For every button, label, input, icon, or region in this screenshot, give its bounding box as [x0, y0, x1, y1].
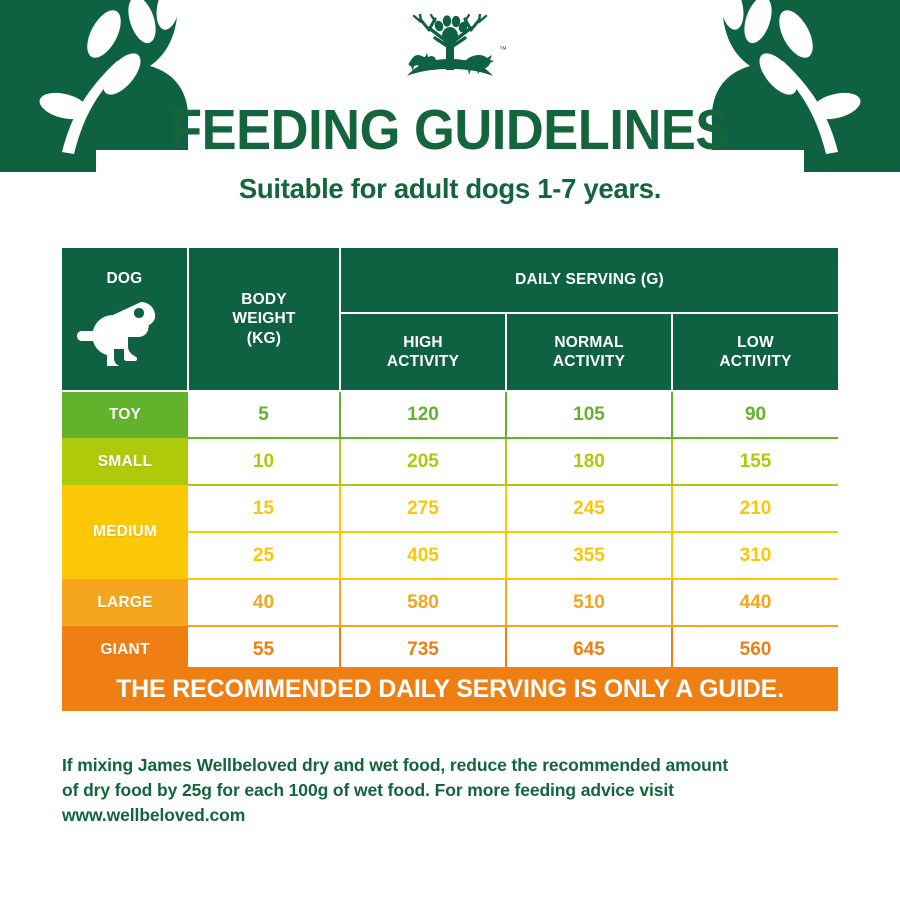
- cell-giant-low: 560: [672, 626, 838, 673]
- header-cell-low-activity: LOW ACTIVITY: [672, 313, 838, 391]
- page-header: ™ FEEDING GUIDELINES Suitable for adult …: [0, 0, 900, 205]
- table-row-toy: TOY 5 120 105 90: [62, 391, 838, 438]
- row-label-large: LARGE: [62, 579, 188, 626]
- footnote-website: www.wellbeloved.com: [62, 803, 842, 828]
- guide-disclaimer-banner: THE RECOMMENDED DAILY SERVING IS ONLY A …: [62, 667, 838, 711]
- cell-toy-high: 120: [340, 391, 506, 438]
- cell-medium-high-1: 275: [340, 485, 506, 532]
- cell-small-low: 155: [672, 438, 838, 485]
- cell-large-normal: 510: [506, 579, 672, 626]
- cell-large-low: 440: [672, 579, 838, 626]
- cell-medium-normal-2: 355: [506, 532, 672, 579]
- header-label-low-line2: ACTIVITY: [719, 352, 791, 371]
- cell-medium-low-2: 310: [672, 532, 838, 579]
- cell-large-high: 580: [340, 579, 506, 626]
- feeding-guidelines-table: DOG BODY WEIGHT (KG): [62, 248, 838, 674]
- cell-toy-normal: 105: [506, 391, 672, 438]
- cell-giant-weight: 55: [188, 626, 340, 673]
- trademark-mark: ™: [499, 45, 507, 54]
- row-label-giant: GIANT: [62, 626, 188, 673]
- header-label-body-weight-line3: (KG): [232, 329, 295, 348]
- footnote-line-2: of dry food by 25g for each 100g of wet …: [62, 778, 842, 803]
- header-cell-dog: DOG: [62, 248, 188, 391]
- cell-giant-high: 735: [340, 626, 506, 673]
- footnote-text: If mixing James Wellbeloved dry and wet …: [62, 753, 842, 828]
- table-row-large: LARGE 40 580 510 440: [62, 579, 838, 626]
- cell-giant-normal: 645: [506, 626, 672, 673]
- header-label-dog: DOG: [107, 269, 143, 288]
- cell-small-normal: 180: [506, 438, 672, 485]
- cell-medium-low-1: 210: [672, 485, 838, 532]
- header-cell-daily-serving: DAILY SERVING (G): [340, 248, 838, 313]
- table-row-small: SMALL 10 205 180 155: [62, 438, 838, 485]
- row-label-medium: MEDIUM: [62, 485, 188, 579]
- brand-logo-icon: ™: [391, 14, 509, 86]
- header-label-low-line1: LOW: [719, 333, 791, 352]
- header-label-normal-line1: NORMAL: [553, 333, 625, 352]
- cell-medium-high-2: 405: [340, 532, 506, 579]
- cell-medium-weight-1: 15: [188, 485, 340, 532]
- cell-medium-normal-1: 245: [506, 485, 672, 532]
- header-label-daily-serving: DAILY SERVING (G): [341, 248, 838, 312]
- dog-silhouette-icon: [77, 292, 173, 366]
- table-row-giant: GIANT 55 735 645 560: [62, 626, 838, 673]
- cell-small-high: 205: [340, 438, 506, 485]
- header-cell-normal-activity: NORMAL ACTIVITY: [506, 313, 672, 391]
- cell-toy-low: 90: [672, 391, 838, 438]
- cell-toy-weight: 5: [188, 391, 340, 438]
- row-label-toy: TOY: [62, 391, 188, 438]
- header-label-body-weight-line1: BODY: [232, 290, 295, 309]
- row-label-small: SMALL: [62, 438, 188, 485]
- cell-large-weight: 40: [188, 579, 340, 626]
- cell-small-weight: 10: [188, 438, 340, 485]
- header-label-high-line1: HIGH: [387, 333, 459, 352]
- header-cell-body-weight: BODY WEIGHT (KG): [188, 248, 340, 391]
- footnote-line-1: If mixing James Wellbeloved dry and wet …: [62, 753, 842, 778]
- page-subtitle: Suitable for adult dogs 1-7 years.: [0, 173, 900, 205]
- header-label-normal-line2: ACTIVITY: [553, 352, 625, 371]
- page-title: FEEDING GUIDELINES: [36, 102, 864, 159]
- table-row-medium-a: MEDIUM 15 275 245 210: [62, 485, 838, 532]
- header-cell-high-activity: HIGH ACTIVITY: [340, 313, 506, 391]
- table-header-row-1: DOG BODY WEIGHT (KG): [62, 248, 838, 313]
- header-label-body-weight-line2: WEIGHT: [232, 309, 295, 328]
- header-label-high-line2: ACTIVITY: [387, 352, 459, 371]
- cell-medium-weight-2: 25: [188, 532, 340, 579]
